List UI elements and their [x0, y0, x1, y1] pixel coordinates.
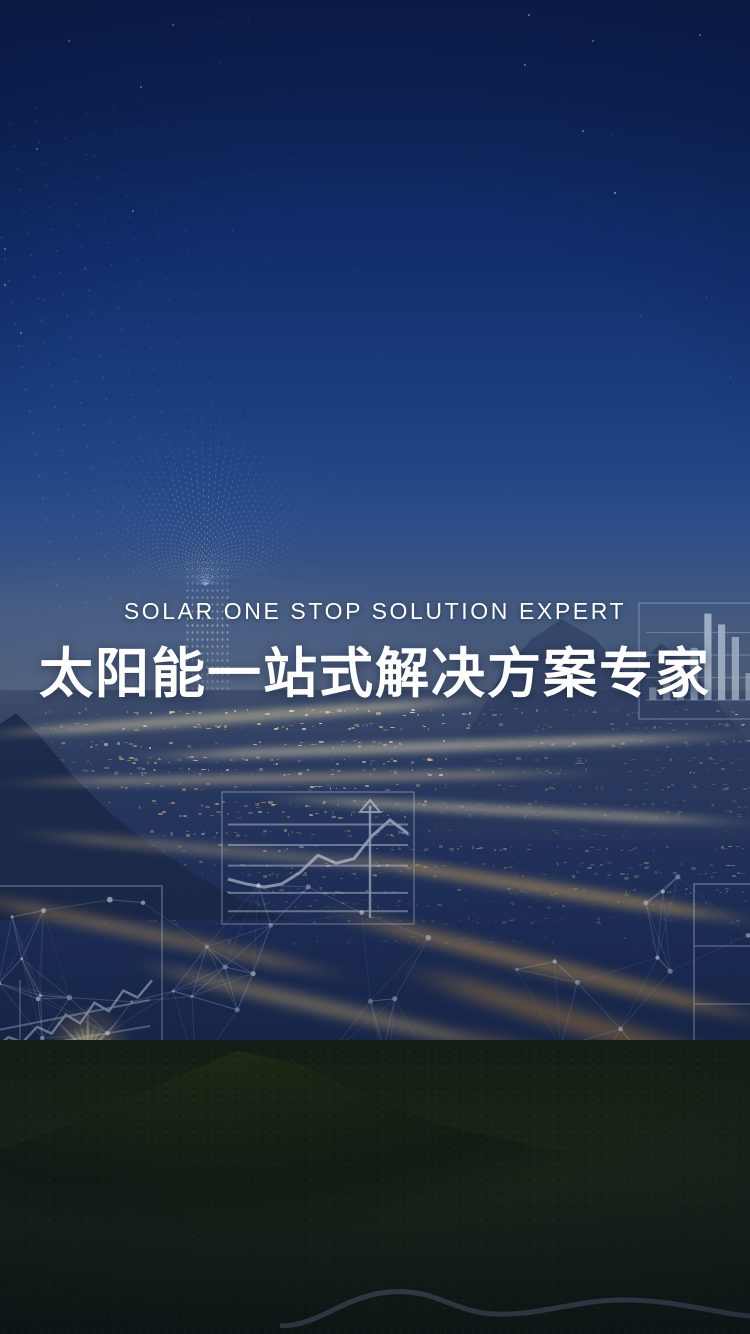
banner-copy: SOLAR ONE STOP SOLUTION EXPERT 太阳能一站式解决方… — [0, 600, 750, 701]
winding-road — [280, 1268, 750, 1328]
banner-headline: 太阳能一站式解决方案专家 — [0, 647, 750, 701]
solar-banner: SOLAR ONE STOP SOLUTION EXPERT 太阳能一站式解决方… — [0, 0, 750, 1334]
banner-eyebrow: SOLAR ONE STOP SOLUTION EXPERT — [0, 600, 750, 623]
